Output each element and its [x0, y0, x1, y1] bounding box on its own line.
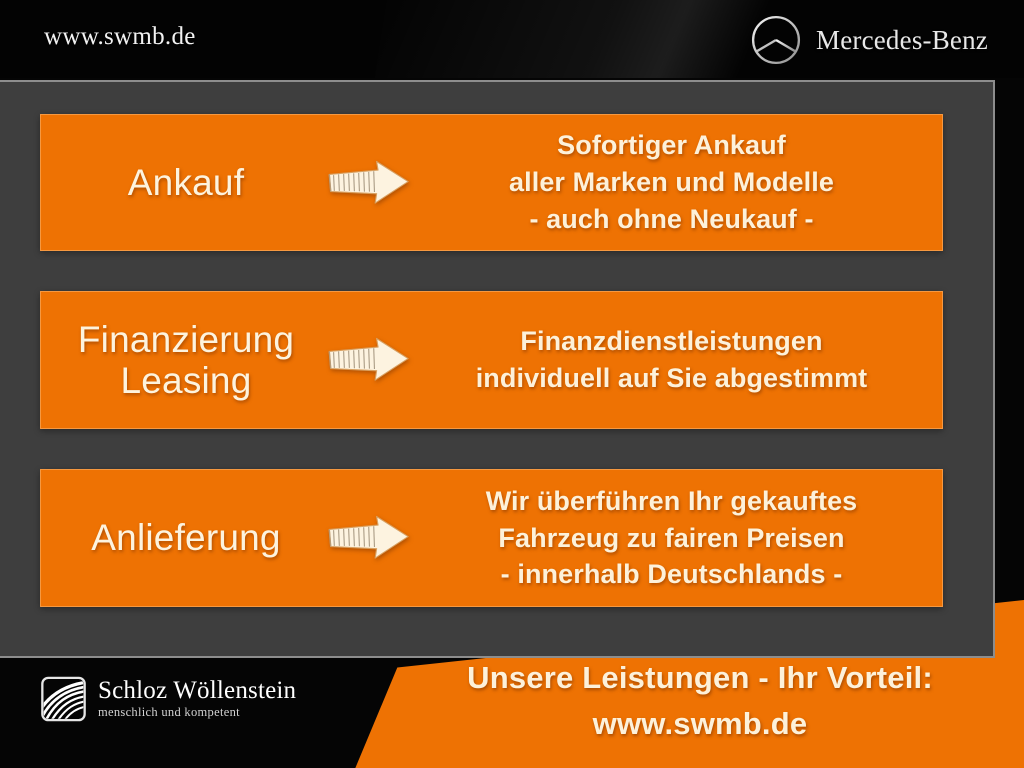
arrow-cell — [313, 334, 423, 386]
service-title: Finanzierung Leasing — [41, 319, 313, 402]
description-line: aller Marken und Modelle — [423, 164, 920, 201]
dealer-name: Schloz Wöllenstein — [98, 678, 296, 704]
footer-website-url: www.swmb.de — [400, 706, 1000, 742]
description-line: - innerhalb Deutschlands - — [423, 556, 920, 593]
description-line: - auch ohne Neukauf - — [423, 201, 920, 238]
sketch-arrow-right-icon — [325, 334, 411, 386]
slide-header: www.swmb.de Mercedes-Benz — [0, 0, 1024, 78]
footer-message: Unsere Leistungen - Ihr Vorteil: www.swm… — [400, 660, 1000, 742]
dealer-text-block: Schloz Wöllenstein menschlich und kompet… — [98, 678, 296, 720]
service-title: Ankauf — [41, 162, 313, 203]
description-line: Sofortiger Ankauf — [423, 127, 920, 164]
description-line: Wir überführen Ihr gekauftes — [423, 483, 920, 520]
mercedes-benz-logo: Mercedes-Benz — [750, 14, 988, 66]
service-description: Wir überführen Ihr gekauftes Fahrzeug zu… — [423, 483, 942, 593]
mercedes-benz-wordmark: Mercedes-Benz — [816, 25, 988, 56]
content-panel: Ankauf — [0, 80, 995, 658]
sketch-arrow-right-icon — [325, 512, 411, 564]
description-line: individuell auf Sie abgestimmt — [423, 360, 920, 397]
service-row-ankauf[interactable]: Ankauf — [40, 114, 943, 251]
description-line: Fahrzeug zu fairen Preisen — [423, 520, 920, 557]
service-description: Finanzdienstleistungen individuell auf S… — [423, 323, 942, 396]
dealer-tagline: menschlich und kompetent — [98, 705, 296, 720]
description-line: Finanzdienstleistungen — [423, 323, 920, 360]
service-description: Sofortiger Ankauf aller Marken und Model… — [423, 127, 942, 237]
arrow-cell — [313, 157, 423, 209]
mercedes-star-icon — [750, 14, 802, 66]
header-website-url: www.swmb.de — [44, 23, 196, 51]
sketch-arrow-right-icon — [325, 157, 411, 209]
footer-headline: Unsere Leistungen - Ihr Vorteil: — [400, 660, 1000, 696]
schloz-woellenstein-mark-icon — [40, 676, 87, 722]
dealer-logo: Schloz Wöllenstein menschlich und kompet… — [40, 676, 296, 722]
service-row-finanzierung-leasing[interactable]: Finanzierung Leasing — [40, 291, 943, 429]
service-row-anlieferung[interactable]: Anlieferung — [40, 469, 943, 607]
arrow-cell — [313, 512, 423, 564]
service-title: Anlieferung — [41, 517, 313, 558]
slide-root: www.swmb.de Mercedes-Benz — [0, 0, 1024, 768]
